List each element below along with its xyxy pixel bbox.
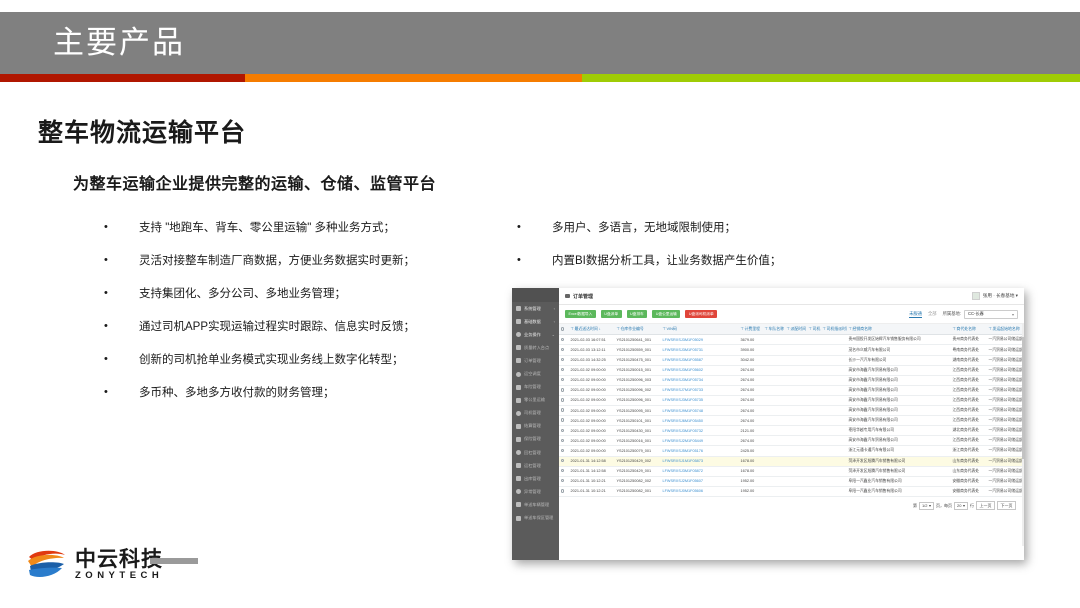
- cell-mileage: 1678.00: [739, 466, 763, 476]
- sidebar-brand: [512, 288, 559, 302]
- checkbox-icon[interactable]: [561, 408, 564, 411]
- cell-dispatch-time: [785, 406, 807, 416]
- cell-arrival-time: 2021-02-02 09:00:00: [569, 416, 615, 426]
- sidebar-item-2[interactable]: 业务操作⌄: [512, 328, 559, 341]
- list-item: 内置BI数据分析工具，让业务数据产生价值；: [517, 254, 937, 268]
- cell-driver: [807, 375, 821, 385]
- cell-arrival-time: 2021-02-02 09:00:00: [569, 395, 615, 405]
- sidebar-item-4[interactable]: 订单管理: [512, 354, 559, 367]
- cell-origin: 一汽贸易公司储运部: [987, 476, 1024, 486]
- cell-dispatch-time: [785, 385, 807, 395]
- cell-vin: LFWSRXSJ9M1F05748: [661, 406, 713, 416]
- cell-driver: [807, 395, 821, 405]
- page-title: 主要产品: [53, 22, 185, 64]
- cell-gap: [943, 375, 951, 385]
- sidebar-item-9[interactable]: 结算管理: [512, 420, 559, 433]
- select-all-header[interactable]: [559, 324, 569, 335]
- logo-name-en: ZONYTECH: [75, 570, 163, 582]
- table-row[interactable]: 2021-02-02 09:00:00YS2101250096_002LFWSR…: [559, 385, 1024, 395]
- table-row[interactable]: 2021-02-02 09:00:00YS2101250095_001LFWSR…: [559, 406, 1024, 416]
- cell-origin: 一汽贸易公司储运部: [987, 355, 1024, 365]
- cell-job-no: YS2101250096_002: [615, 385, 661, 395]
- cell-driver: [807, 365, 821, 375]
- cell-driver: [807, 406, 821, 416]
- sidebar-item-0[interactable]: 系统管理‹: [512, 302, 559, 315]
- user-menu[interactable]: 张用 · 长春基地 ▾: [983, 293, 1018, 299]
- cell-driver-assign-time: [821, 335, 847, 345]
- cell-job-no: YS2101250095_001: [615, 406, 661, 416]
- cell-origin: 一汽贸易公司储运部: [987, 335, 1024, 345]
- table-row[interactable]: 2021-02-02 09:00:00YS2101250016_001LFWSR…: [559, 436, 1024, 446]
- list-item: 支持集团化、多分公司、多地业务管理；: [104, 287, 524, 301]
- cell-agency: 粤南商务代表处: [951, 345, 987, 355]
- table-row[interactable]: 2021-02-02 09:00:00YS2101250096_003LFWSR…: [559, 375, 1024, 385]
- row-checkbox[interactable]: [559, 355, 569, 365]
- box-icon: [516, 463, 521, 468]
- list-item: 支持 "地跑车、背车、零公里运输" 多种业务方式；: [104, 221, 524, 235]
- cell-job-no: YS2101250429_001: [615, 466, 661, 476]
- row-checkbox[interactable]: [559, 375, 569, 385]
- cell-driver: [807, 486, 821, 496]
- cell-gap: [943, 426, 951, 436]
- row-checkbox[interactable]: [559, 395, 569, 405]
- list-item: 多用户、多语言，无地域限制使用；: [517, 221, 937, 235]
- chevron-down-icon: ▾: [1012, 312, 1014, 317]
- table-row[interactable]: 2021-01-31 10:12:21YS2101250082_002LFWSR…: [559, 476, 1024, 486]
- cell-blank: [713, 416, 739, 426]
- cell-dispatch-time: [785, 486, 807, 496]
- toolbar-button-0[interactable]: Excel数据导入: [565, 310, 596, 319]
- app-main: 订单管理 张用 · 长春基地 ▾ Excel数据导入U盘派单U盘排车U盘公里运输…: [559, 288, 1024, 560]
- cell-gap: [943, 385, 951, 395]
- table-row[interactable]: 2021-02-03 13:12:11YS2101250559_001LFWSR…: [559, 345, 1024, 355]
- cell-origin: 一汽贸易公司储运部: [987, 466, 1024, 476]
- checkbox-icon[interactable]: [561, 459, 564, 462]
- sidebar-item-16[interactable]: 单送车保区管理: [512, 512, 559, 525]
- cell-fleet: [763, 395, 785, 405]
- cell-gap: [943, 446, 951, 456]
- pager-mid: 页，每页: [936, 503, 952, 509]
- list-item: 多币种、多地多方收付款的财务管理；: [104, 386, 524, 400]
- cell-dispatch-time: [785, 426, 807, 436]
- sidebar-item-5[interactable]: 运空调度: [512, 367, 559, 380]
- id-icon: [516, 411, 521, 416]
- tag-icon: [516, 516, 521, 521]
- col-gap: [943, 324, 951, 335]
- row-checkbox[interactable]: [559, 385, 569, 395]
- cell-mileage: 1952.00: [739, 486, 763, 496]
- section-subheading: 为整车运输企业提供完整的运输、仓储、监管平台: [73, 170, 436, 194]
- cell-blank: [713, 446, 739, 456]
- cell-gap: [943, 365, 951, 375]
- cell-vin: LFWSRXSJ6M1F05450: [661, 416, 713, 426]
- cell-mileage: 2121.00: [739, 426, 763, 436]
- row-checkbox[interactable]: [559, 476, 569, 486]
- cell-driver-assign-time: [821, 476, 847, 486]
- checkbox-icon[interactable]: [561, 398, 564, 401]
- page-select[interactable]: 1/2 ▾: [919, 502, 934, 510]
- cell-origin: 一汽贸易公司储运部: [987, 486, 1024, 496]
- cell-fleet: [763, 466, 785, 476]
- col-origin[interactable]: ⊤发运起始地名称: [987, 324, 1024, 335]
- cell-arrival-time: 2021-02-03 13:12:11: [569, 345, 615, 355]
- sidebar-item-15[interactable]: 单送车辆管理: [512, 498, 559, 511]
- table-row[interactable]: 2021-02-02 09:00:00YS2101250015_001LFWSR…: [559, 365, 1024, 375]
- cell-driver-assign-time: [821, 426, 847, 436]
- cell-agency: 山东商务代表处: [951, 466, 987, 476]
- row-checkbox[interactable]: [559, 416, 569, 426]
- chevron-down-icon: ⌄: [552, 332, 555, 337]
- cell-job-no: YS2101250015_001: [615, 365, 661, 375]
- sidebar-item-label: 司机管理: [524, 410, 541, 416]
- cell-origin: 一汽贸易公司储运部: [987, 365, 1024, 375]
- cell-mileage: 2674.00: [739, 375, 763, 385]
- checkbox-icon[interactable]: [561, 479, 564, 482]
- col-dealer[interactable]: ⊤经销商名称: [847, 324, 943, 335]
- cell-dealer: 高安市海鑫汽车贸易有限公司: [847, 395, 943, 405]
- cell-origin: 一汽贸易公司储运部: [987, 446, 1024, 456]
- cell-vin: LFWSRXSJ2M1F05607: [661, 476, 713, 486]
- grid-icon: [516, 476, 521, 481]
- logo-mark-icon: [26, 548, 68, 582]
- table-body: 2021-02-03 16:07:51YS2101250641_001LFWSR…: [559, 335, 1024, 497]
- cell-blank: [713, 335, 739, 345]
- col-arrival-time[interactable]: ⊤最近送达时间 ↓: [569, 324, 615, 335]
- sidebar-item-8[interactable]: 司机管理: [512, 407, 559, 420]
- col-driver-assign-time[interactable]: ⊤司机指派时间: [821, 324, 847, 335]
- cell-arrival-time: 2021-01-31 14:12:58: [569, 456, 615, 466]
- sidebar-item-6[interactable]: 车险管理: [512, 381, 559, 394]
- database-icon: [516, 319, 521, 324]
- cell-fleet: [763, 335, 785, 345]
- scrollbar-thumb[interactable]: [1022, 337, 1025, 459]
- col-dispatch-time[interactable]: ⊤派配时间: [785, 324, 807, 335]
- cell-fleet: [763, 476, 785, 486]
- sidebar-item-label: 业务操作: [524, 332, 541, 338]
- cell-mileage: 2674.00: [739, 365, 763, 375]
- col-vin[interactable]: ⊤VIN码: [661, 324, 713, 335]
- cell-driver-assign-time: [821, 345, 847, 355]
- cell-blank: [713, 466, 739, 476]
- dot-icon: [516, 450, 521, 455]
- checkbox-icon[interactable]: [561, 469, 564, 472]
- cell-fleet: [763, 345, 785, 355]
- cell-origin: 一汽贸易公司储运部: [987, 436, 1024, 446]
- cell-vin: LFWSRXSJ7M1F05733: [661, 385, 713, 395]
- cell-origin: 一汽贸易公司储运部: [987, 385, 1024, 395]
- col-fleet[interactable]: ⊤车队名称: [763, 324, 785, 335]
- cell-agency: 山东商务代表处: [951, 456, 987, 466]
- cell-arrival-time: 2021-01-31 10:12:21: [569, 476, 615, 486]
- app-page-title: 订单管理: [573, 293, 593, 300]
- cell-dispatch-time: [785, 345, 807, 355]
- cell-arrival-time: 2021-02-02 09:00:00: [569, 426, 615, 436]
- cell-vin: LFWSRXSJ3M1F05732: [661, 426, 713, 436]
- cell-vin: LFWSRXSJ3M1F05731: [661, 345, 713, 355]
- cell-job-no: YS2101250016_001: [615, 436, 661, 446]
- image-icon: [516, 424, 521, 429]
- sidebar-item-label: 系统管理: [524, 306, 541, 312]
- table-row[interactable]: 2021-02-03 14:32:25YS2101250475_001LFWSR…: [559, 355, 1024, 365]
- col-agency[interactable]: ⊤商代处名称: [951, 324, 987, 335]
- cell-agency: 江西商务代表处: [951, 416, 987, 426]
- cell-arrival-time: 2021-02-02 09:00:00: [569, 446, 615, 456]
- row-checkbox[interactable]: [559, 365, 569, 375]
- avatar: [972, 292, 980, 300]
- chevron-left-icon: ‹: [554, 319, 555, 324]
- accent-rule-orange: [245, 74, 582, 82]
- cell-dealer: 茂名市众威汽车有限公司: [847, 345, 943, 355]
- cell-driver-assign-time: [821, 416, 847, 426]
- cell-dealer: 高安市海鑫汽车贸易有限公司: [847, 416, 943, 426]
- cell-origin: 一汽贸易公司储运部: [987, 406, 1024, 416]
- cell-blank: [713, 456, 739, 466]
- sidebar-item-11[interactable]: 回杠管理: [512, 446, 559, 459]
- checkbox-icon[interactable]: [561, 358, 564, 361]
- shield-icon: [516, 385, 521, 390]
- cell-arrival-time: 2021-02-03 16:07:51: [569, 335, 615, 345]
- cell-dealer: 阜阳一汽鑫业汽车销售有限公司: [847, 486, 943, 496]
- next-page-button[interactable]: 下一页: [997, 501, 1016, 511]
- page-size-select[interactable]: 20 ▾: [954, 502, 968, 510]
- cell-arrival-time: 2021-02-02 09:00:00: [569, 365, 615, 375]
- checkbox-icon[interactable]: [561, 388, 564, 391]
- cell-driver: [807, 345, 821, 355]
- sidebar-item-1[interactable]: 基础数据‹: [512, 315, 559, 328]
- cell-agency: 浙江商务代表处: [951, 446, 987, 456]
- base-filter-select[interactable]: CC-长春 ▾: [964, 310, 1018, 319]
- cell-dispatch-time: [785, 446, 807, 456]
- cell-gap: [943, 466, 951, 476]
- sidebar-item-7[interactable]: 零公里运输: [512, 394, 559, 407]
- route-icon: [516, 372, 521, 377]
- cell-job-no: YS2101250429_002: [615, 456, 661, 466]
- app-toolbar: Excel数据导入U盘派单U盘排车U盘公里运输U盘派司机派单 未服通 全部 所属…: [559, 305, 1024, 324]
- cell-vin: LFWSRXSJ3M1F05602: [661, 365, 713, 375]
- sidebar-item-label: 车险管理: [524, 384, 541, 390]
- cell-agency: 贵州商务代表处: [951, 335, 987, 345]
- app-topbar: 订单管理 张用 · 长春基地 ▾: [559, 288, 1024, 305]
- cell-arrival-time: 2021-01-31 14:12:58: [569, 466, 615, 476]
- cell-arrival-time: 2021-01-31 10:12:21: [569, 486, 615, 496]
- cell-job-no: YS2101250096_001: [615, 395, 661, 405]
- cell-blank: [713, 436, 739, 446]
- cell-fleet: [763, 486, 785, 496]
- cell-origin: 一汽贸易公司储运部: [987, 456, 1024, 466]
- cell-job-no: YS2101250096_003: [615, 375, 661, 385]
- section-heading: 整车物流运输平台: [38, 113, 246, 149]
- table-row[interactable]: 2021-02-02 09:00:00YS2101250101_001LFWSR…: [559, 416, 1024, 426]
- gear-icon: [516, 306, 521, 311]
- cell-dealer: 菏泽开发区旭腾汽车销售有限公司: [847, 466, 943, 476]
- truck-icon: [565, 294, 570, 298]
- cell-arrival-time: 2021-02-02 09:00:00: [569, 375, 615, 385]
- cell-driver: [807, 416, 821, 426]
- cell-dealer: 高安市海鑫汽车贸易有限公司: [847, 375, 943, 385]
- cell-agency: 江西商务代表处: [951, 385, 987, 395]
- cell-fleet: [763, 375, 785, 385]
- row-checkbox[interactable]: [559, 456, 569, 466]
- vertical-scrollbar[interactable]: [1022, 324, 1025, 546]
- checkbox-icon[interactable]: [561, 378, 564, 381]
- checkbox-icon[interactable]: [561, 368, 564, 371]
- cell-origin: 一汽贸易公司储运部: [987, 375, 1024, 385]
- cell-blank: [713, 426, 739, 436]
- cell-fleet: [763, 385, 785, 395]
- checkbox-icon[interactable]: [561, 489, 564, 492]
- col-driver[interactable]: ⊤司机: [807, 324, 821, 335]
- cell-dispatch-time: [785, 466, 807, 476]
- sidebar-item-3[interactable]: 质量转入台点: [512, 341, 559, 354]
- checkbox-icon[interactable]: [561, 327, 564, 330]
- sidebar-item-label: 出库管理: [524, 476, 541, 482]
- cell-vin: LFWSRXSJ5M1F05176: [661, 446, 713, 456]
- cell-gap: [943, 395, 951, 405]
- cell-driver: [807, 355, 821, 365]
- cell-mileage: 2425.00: [739, 446, 763, 456]
- cell-vin: LFWSRXSJ3M1F05734: [661, 375, 713, 385]
- chevron-left-icon: ‹: [554, 306, 555, 311]
- col-mileage[interactable]: ⊤计费里程: [739, 324, 763, 335]
- cell-driver-assign-time: [821, 406, 847, 416]
- list-item: 创新的司机抢单业务模式实现业务线上数字化转型；: [104, 353, 524, 367]
- cell-agency: 江西商务代表处: [951, 406, 987, 416]
- cell-mileage: 2674.00: [739, 395, 763, 405]
- sidebar-item-label: 运空调度: [524, 371, 541, 377]
- checkbox-icon[interactable]: [561, 348, 564, 351]
- car-icon: [516, 502, 521, 507]
- checkbox-icon[interactable]: [561, 418, 564, 421]
- cell-arrival-time: 2021-02-03 14:32:25: [569, 355, 615, 365]
- checkbox-icon[interactable]: [561, 449, 564, 452]
- cell-gap: [943, 355, 951, 365]
- cell-dispatch-time: [785, 436, 807, 446]
- chevron-down-icon: ▾: [963, 503, 965, 508]
- cell-origin: 一汽贸易公司储运部: [987, 426, 1024, 436]
- cell-dispatch-time: [785, 335, 807, 345]
- sidebar-item-13[interactable]: 出库管理: [512, 472, 559, 485]
- cell-driver-assign-time: [821, 436, 847, 446]
- row-checkbox[interactable]: [559, 446, 569, 456]
- circle-icon: [516, 398, 521, 403]
- cell-mileage: 3042.00: [739, 355, 763, 365]
- cell-blank: [713, 355, 739, 365]
- table-row[interactable]: 2021-02-02 09:00:00YS2101250430_001LFWSR…: [559, 426, 1024, 436]
- cell-dispatch-time: [785, 476, 807, 486]
- cell-arrival-time: 2021-02-02 09:00:00: [569, 385, 615, 395]
- table-row[interactable]: 2021-02-02 09:00:00YS2101250079_001LFWSR…: [559, 446, 1024, 456]
- cell-driver: [807, 436, 821, 446]
- cell-fleet: [763, 406, 785, 416]
- cell-driver: [807, 456, 821, 466]
- tab-all[interactable]: 全部: [928, 311, 937, 317]
- cell-job-no: YS2101250641_001: [615, 335, 661, 345]
- cell-blank: [713, 476, 739, 486]
- accent-rule-red: [0, 74, 245, 82]
- table-row[interactable]: 2021-02-03 16:07:51YS2101250641_001LFWSR…: [559, 335, 1024, 345]
- cell-driver-assign-time: [821, 446, 847, 456]
- cell-driver-assign-time: [821, 375, 847, 385]
- pager-suffix: 行: [970, 503, 974, 509]
- cell-mileage: 3679.00: [739, 335, 763, 345]
- checkbox-icon[interactable]: [561, 439, 564, 442]
- cell-dealer: 高安市海鑫汽车贸易有限公司: [847, 385, 943, 395]
- chart-icon: [516, 332, 521, 337]
- cell-vin: LFWSRXSJ2M1F05449: [661, 436, 713, 446]
- toolbar-button-2[interactable]: U盘排车: [627, 310, 648, 319]
- sidebar-item-label: 异常管理: [524, 489, 541, 495]
- row-checkbox[interactable]: [559, 406, 569, 416]
- list-item: 灵活对接整车制造厂商数据，方便业务数据实时更新；: [104, 254, 524, 268]
- accent-rule-green: [582, 74, 1080, 82]
- page-size-value: 20: [957, 503, 961, 508]
- row-checkbox[interactable]: [559, 466, 569, 476]
- base-filter-value: CC-长春: [968, 311, 984, 317]
- col-job-no[interactable]: ⊤仓库作业编号: [615, 324, 661, 335]
- table-row[interactable]: 2021-01-31 10:12:21YS2101250082_001LFWSR…: [559, 486, 1024, 496]
- row-checkbox[interactable]: [559, 486, 569, 496]
- cell-agency: 江西商务代表处: [951, 436, 987, 446]
- toolbar-button-3[interactable]: U盘公里运输: [652, 310, 680, 319]
- sidebar-item-14[interactable]: 异常管理: [512, 485, 559, 498]
- row-checkbox[interactable]: [559, 345, 569, 355]
- sidebar-item-label: 基础数据: [524, 319, 541, 325]
- cell-agency: 湖北商务代表处: [951, 426, 987, 436]
- cell-blank: [713, 395, 739, 405]
- table-row[interactable]: 2021-01-31 14:12:58YS2101250429_001LFWSR…: [559, 466, 1024, 476]
- table-head: ⊤最近送达时间 ↓ ⊤仓库作业编号 ⊤VIN码 ⊤计费里程 ⊤车队名称 ⊤派配时…: [559, 324, 1024, 335]
- toolbar-buttons: Excel数据导入U盘派单U盘排车U盘公里运输U盘派司机派单: [565, 310, 722, 319]
- sidebar-item-10[interactable]: 保险管理: [512, 433, 559, 446]
- cell-mileage: 2674.00: [739, 385, 763, 395]
- row-checkbox[interactable]: [559, 426, 569, 436]
- doc-icon: [516, 437, 521, 442]
- cell-vin: LFWSRXSJ3M1F05735: [661, 395, 713, 405]
- table-row[interactable]: 2021-01-31 14:12:58YS2101250429_002LFWSR…: [559, 456, 1024, 466]
- cell-agency: 安徽商务代表处: [951, 486, 987, 496]
- row-checkbox[interactable]: [559, 335, 569, 345]
- checkbox-icon[interactable]: [561, 338, 564, 341]
- tab-unsettled[interactable]: 未服通: [909, 311, 922, 318]
- table-row[interactable]: 2021-02-02 09:00:00YS2101250096_001LFWSR…: [559, 395, 1024, 405]
- cell-driver: [807, 335, 821, 345]
- prev-page-button[interactable]: 上一页: [976, 501, 995, 511]
- toolbar-button-1[interactable]: U盘派单: [601, 310, 622, 319]
- cell-driver-assign-time: [821, 395, 847, 405]
- cell-driver-assign-time: [821, 355, 847, 365]
- sidebar-items: 系统管理‹基础数据‹业务操作⌄质量转入台点订单管理运空调度车险管理零公里运输司机…: [512, 302, 559, 525]
- cell-fleet: [763, 365, 785, 375]
- cell-dealer: 浙江元通卡通汽车有限公司: [847, 446, 943, 456]
- row-checkbox[interactable]: [559, 436, 569, 446]
- cell-dealer: 菏泽开发区旭腾汽车销售有限公司: [847, 456, 943, 466]
- cell-blank: [713, 385, 739, 395]
- company-logo: 中云科技 ZONYTECH: [26, 548, 163, 582]
- logo-text: 中云科技 ZONYTECH: [75, 549, 163, 582]
- checkbox-icon[interactable]: [561, 429, 564, 432]
- col-blank: [713, 324, 739, 335]
- sidebar-item-label: 零公里运输: [524, 397, 545, 403]
- cell-gap: [943, 486, 951, 496]
- sidebar-item-12[interactable]: 运杠管理: [512, 459, 559, 472]
- toolbar-button-4[interactable]: U盘派司机派单: [685, 310, 717, 319]
- cell-dealer: 高安市海鑫汽车贸易有限公司: [847, 406, 943, 416]
- cell-blank: [713, 486, 739, 496]
- sidebar-item-label: 订单管理: [524, 358, 541, 364]
- cell-fleet: [763, 456, 785, 466]
- cell-vin: LFWSRXSJ0M1F05606: [661, 486, 713, 496]
- cell-blank: [713, 365, 739, 375]
